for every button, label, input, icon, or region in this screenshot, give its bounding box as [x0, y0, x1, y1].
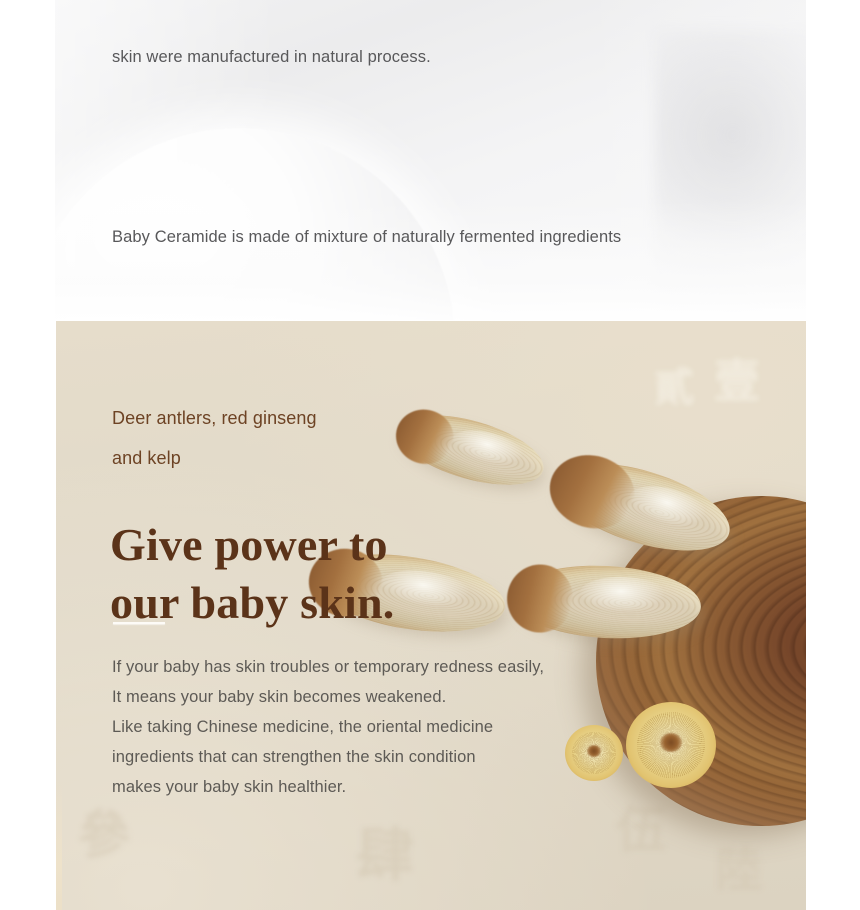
desc-line-2-blank [112, 132, 792, 162]
ingredients-body-text: If your baby has skin troubles or tempor… [112, 652, 672, 802]
eyebrow-line-2: and kelp [112, 438, 532, 478]
body-line-3: Like taking Chinese medicine, the orient… [112, 712, 672, 742]
headline-line-2: our baby skin. [110, 574, 580, 632]
ceramide-description-text: skin were manufactured in natural proces… [112, 0, 792, 320]
desc-line-3: Baby Ceramide is made of mixture of natu… [112, 222, 792, 252]
ingredients-eyebrow: Deer antlers, red ginseng and kelp [112, 398, 532, 478]
bottom-panel-left-edge [56, 321, 62, 910]
watermark-glyph-4: 肆 [356, 808, 414, 892]
body-line-4: ingredients that can strengthen the skin… [112, 742, 672, 772]
headline-divider [113, 622, 165, 624]
watermark-glyph-2: 貳 [654, 355, 694, 413]
headline-line-1: Give power to [110, 516, 580, 574]
body-line-1: If your baby has skin troubles or tempor… [112, 652, 672, 682]
ingredients-headline: Give power to our baby skin. [110, 516, 580, 632]
watermark-glyph-1: 壹 [714, 345, 760, 411]
watermark-glyph-3: 參 [78, 793, 130, 868]
eyebrow-line-1: Deer antlers, red ginseng [112, 398, 532, 438]
body-line-5: makes your baby skin healthier. [112, 772, 672, 802]
ceramide-description-panel: skin were manufactured in natural proces… [55, 0, 806, 320]
desc-line-1: skin were manufactured in natural proces… [112, 42, 792, 72]
watermark-glyph-6: 陸 [716, 834, 762, 900]
oriental-ingredients-panel: 壹 貳 參 肆 伍 陸 [56, 321, 806, 910]
body-line-2: It means your baby skin becomes weakened… [112, 682, 672, 712]
product-detail-page: skin were manufactured in natural proces… [0, 0, 860, 910]
desc-line-4: and natural seed oils which is good for … [112, 312, 792, 320]
